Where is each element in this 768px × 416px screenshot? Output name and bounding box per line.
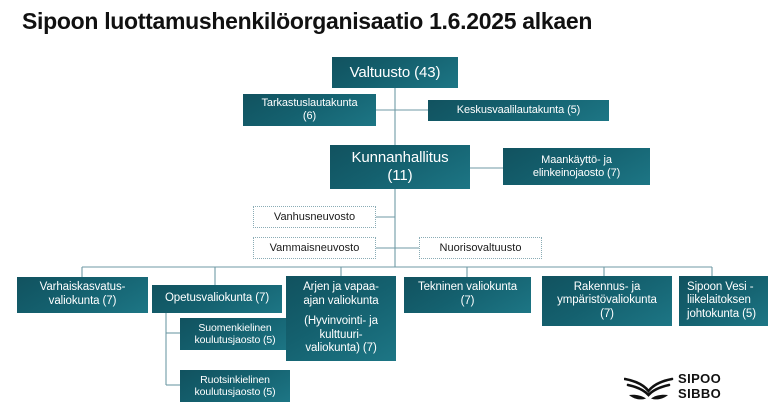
box-maankaytto-line2: elinkeinojaosto (7) xyxy=(508,167,645,180)
committee-rakennus-line1: Rakennus- ja xyxy=(547,281,667,295)
committee-rakennus-line2: ympäristövaliokunta xyxy=(547,294,667,308)
box-committee-opetus[interactable]: Opetusvaliokunta (7) xyxy=(152,285,282,313)
committee-sipoon-vesi-line2: liikelaitoksen xyxy=(687,294,763,308)
committee-arjen-line1: Arjen ja vapaa- xyxy=(291,281,391,295)
box-committee-tekninen[interactable]: Tekninen valiokunta (7) xyxy=(404,277,531,313)
subcommittee-suomenkielinen-line2: koulutusjaosto (5) xyxy=(185,334,285,346)
subcommittee-ruotsinkielinen-line1: Ruotsinkielinen xyxy=(185,374,285,386)
box-nuorisovaltuusto-label: Nuorisovaltuusto xyxy=(440,242,522,255)
box-maankaytto-elinkeinojaosto[interactable]: Maankäyttö- ja elinkeinojaosto (7) xyxy=(503,148,650,185)
box-committee-rakennus-ymparisto[interactable]: Rakennus- ja ympäristövaliokunta (7) xyxy=(542,276,672,326)
committee-arjen-line5: valiokunta) (7) xyxy=(291,342,391,356)
box-tarkastuslautakunta-seats: (6) xyxy=(248,110,371,123)
committee-tekninen-line1: Tekninen valiokunta xyxy=(409,281,526,295)
box-vanhusneuvosto-label: Vanhusneuvosto xyxy=(274,211,355,224)
committee-sipoon-vesi-line3: johtokunta (5) xyxy=(687,308,763,322)
committee-varhaiskasvatus-line2: valiokunta (7) xyxy=(22,295,143,309)
committee-arjen-line2: ajan valiokunta xyxy=(291,295,391,309)
box-subcommittee-ruotsinkielinen[interactable]: Ruotsinkielinen koulutusjaosto (5) xyxy=(180,370,290,402)
committee-varhaiskasvatus-line1: Varhaiskasvatus- xyxy=(22,281,143,295)
box-vanhusneuvosto[interactable]: Vanhusneuvosto xyxy=(253,206,376,228)
logo-line-sibbo: SIBBO xyxy=(678,386,721,401)
box-maankaytto-line1: Maankäyttö- ja xyxy=(508,154,645,167)
box-keskusvaalilautakunta-label: Keskusvaalilautakunta (5) xyxy=(433,104,604,117)
box-kunnanhallitus-label: Kunnanhallitus xyxy=(335,149,465,167)
committee-arjen-spacer xyxy=(291,308,391,315)
logo-line-sipoo: SIPOO xyxy=(678,371,721,386)
subcommittee-suomenkielinen-line1: Suomenkielinen xyxy=(185,322,285,334)
box-kunnanhallitus-seats: (11) xyxy=(335,167,465,185)
sipoo-wave-logo-icon xyxy=(624,372,674,404)
sipoo-logo: SIPOO SIBBO xyxy=(624,372,754,406)
committee-sipoon-vesi-line1: Sipoon Vesi - xyxy=(687,281,763,295)
box-vammaisneuvosto-label: Vammaisneuvosto xyxy=(270,242,360,255)
box-valtuusto[interactable]: Valtuusto (43) xyxy=(332,57,458,88)
committee-opetus-line1: Opetusvaliokunta (7) xyxy=(157,292,277,306)
committee-arjen-line3: (Hyvinvointi- ja xyxy=(291,315,391,329)
box-nuorisovaltuusto[interactable]: Nuorisovaltuusto xyxy=(419,237,542,259)
box-committee-arjen-vapaa-ajan[interactable]: Arjen ja vapaa- ajan valiokunta (Hyvinvo… xyxy=(286,276,396,361)
committee-arjen-line4: kulttuuri- xyxy=(291,329,391,343)
logo-wordmark: SIPOO SIBBO xyxy=(678,371,721,402)
box-committee-sipoon-vesi[interactable]: Sipoon Vesi - liikelaitoksen johtokunta … xyxy=(679,276,768,326)
committee-rakennus-line3: (7) xyxy=(547,308,667,322)
box-tarkastuslautakunta-label: Tarkastuslautakunta xyxy=(248,97,371,110)
box-subcommittee-suomenkielinen[interactable]: Suomenkielinen koulutusjaosto (5) xyxy=(180,318,290,350)
box-keskusvaalilautakunta[interactable]: Keskusvaalilautakunta (5) xyxy=(428,100,609,121)
box-committee-varhaiskasvatus[interactable]: Varhaiskasvatus- valiokunta (7) xyxy=(17,277,148,313)
box-valtuusto-label: Valtuusto (43) xyxy=(337,64,453,82)
committee-tekninen-line2: (7) xyxy=(409,295,526,309)
box-kunnanhallitus[interactable]: Kunnanhallitus (11) xyxy=(330,145,470,189)
subcommittee-ruotsinkielinen-line2: koulutusjaosto (5) xyxy=(185,386,285,398)
box-tarkastuslautakunta[interactable]: Tarkastuslautakunta (6) xyxy=(243,94,376,126)
box-vammaisneuvosto[interactable]: Vammaisneuvosto xyxy=(253,237,376,259)
org-chart-page: Sipoon luottamushenkilöorganisaatio 1.6.… xyxy=(0,0,768,416)
